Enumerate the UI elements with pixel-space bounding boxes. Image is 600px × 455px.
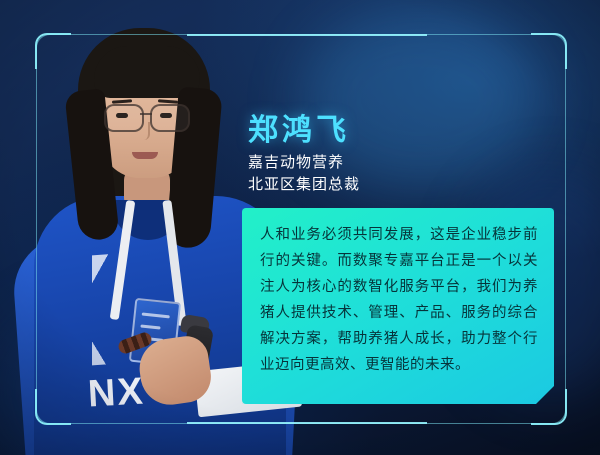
badge-line-1 xyxy=(142,313,170,319)
glasses-lens-right xyxy=(150,104,190,132)
glasses-bridge xyxy=(140,113,152,115)
quote-card: 人和业务必须共同发展，这是企业稳步前行的关键。而数聚专嘉平台正是一个以关注人为核… xyxy=(242,208,554,404)
nose xyxy=(140,122,150,140)
mouth xyxy=(132,152,158,159)
speaker-name: 郑鸿飞 xyxy=(248,105,350,149)
speaker-affiliation: 嘉吉动物营养 北亚区集团总裁 xyxy=(248,152,360,196)
eye-right xyxy=(160,113,172,118)
quote-text: 人和业务必须共同发展，这是企业稳步前行的关键。而数聚专嘉平台正是一个以关注人为核… xyxy=(260,222,538,378)
shirt-logo-text: NX xyxy=(87,371,146,417)
badge-line-2 xyxy=(140,324,160,329)
glasses-lens-left xyxy=(104,104,144,132)
screenshot-root: NX 郑鸿飞 嘉吉动物营养 北亚区集团总裁 人和业务必须共同发展，这是企业稳步前… xyxy=(0,0,600,455)
eye-left xyxy=(116,113,128,118)
affiliation-line-2: 北亚区集团总裁 xyxy=(248,174,360,196)
affiliation-line-1: 嘉吉动物营养 xyxy=(248,152,360,174)
